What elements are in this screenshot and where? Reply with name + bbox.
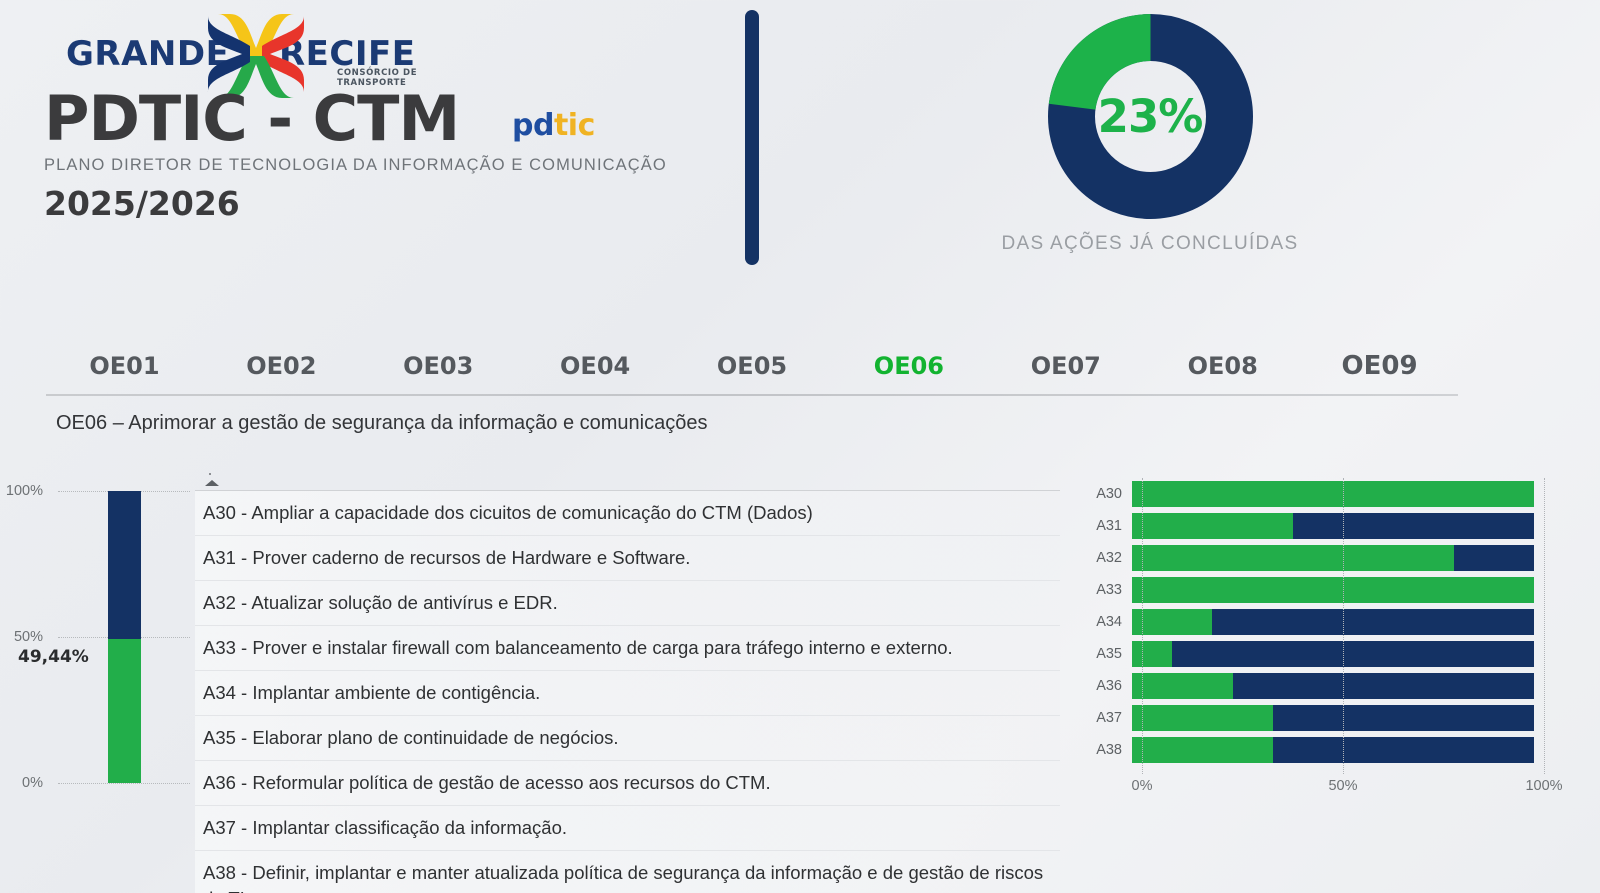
kpi-donut-block: 23% DAS AÇÕES JÁ CONCLUÍDAS bbox=[985, 14, 1315, 255]
hchart-row[interactable]: A30 bbox=[1080, 478, 1580, 509]
list-item[interactable]: A34 - Implantar ambiente de contigência. bbox=[195, 671, 1060, 716]
list-item[interactable]: A30 - Ampliar a capacidade dos cicuitos … bbox=[195, 491, 1060, 536]
objective-tabs[interactable]: OE01OE02OE03OE04OE05OE06OE07OE08OE09 bbox=[46, 336, 1458, 396]
hchart-category-a36: A36 bbox=[1080, 678, 1132, 694]
tab-oe07[interactable]: OE07 bbox=[987, 352, 1144, 380]
dashboard-page: GRANDE RECIFE CONSÓRCIO DE TRANSPORTE PD… bbox=[0, 0, 1600, 893]
pdtic-wordmark-pd: pd bbox=[512, 108, 554, 143]
vchart-ytick-100: 100% bbox=[6, 483, 43, 499]
vchart-gridline-0 bbox=[58, 783, 190, 784]
grande-recife-logo: GRANDE RECIFE CONSÓRCIO DE TRANSPORTE bbox=[54, 12, 434, 80]
hchart-bar-track bbox=[1132, 513, 1534, 539]
kpi-donut-value: 23% bbox=[1048, 14, 1253, 219]
vchart-stacked-bar[interactable] bbox=[108, 491, 141, 783]
tabs-divider bbox=[46, 394, 1458, 396]
hchart-bar-fill-concluido bbox=[1132, 705, 1273, 731]
kpi-donut-chart: 23% bbox=[1048, 14, 1253, 219]
hchart-bar-track bbox=[1132, 737, 1534, 763]
hchart-category-a37: A37 bbox=[1080, 710, 1132, 726]
vchart-ytick-0: 0% bbox=[22, 775, 43, 791]
hchart-bar-fill-concluido bbox=[1132, 481, 1534, 507]
hchart-x-axis: 0%50%100% bbox=[1142, 778, 1544, 802]
objective-progress-column-chart: 0%50%100%49,44% bbox=[0, 470, 195, 800]
kpi-donut-caption: DAS AÇÕES JÁ CONCLUÍDAS bbox=[985, 233, 1315, 255]
hchart-bar-track bbox=[1132, 641, 1534, 667]
hchart-xtick-0: 0% bbox=[1132, 778, 1153, 794]
hchart-row[interactable]: A31 bbox=[1080, 510, 1580, 541]
hchart-category-a32: A32 bbox=[1080, 550, 1132, 566]
hchart-bar-track bbox=[1132, 577, 1534, 603]
dashboard-header: GRANDE RECIFE CONSÓRCIO DE TRANSPORTE PD… bbox=[0, 0, 1600, 300]
sort-ascending-icon[interactable] bbox=[201, 472, 223, 490]
hchart-bar-fill-concluido bbox=[1132, 577, 1534, 603]
hchart-row[interactable]: A34 bbox=[1080, 606, 1580, 637]
tab-oe08[interactable]: OE08 bbox=[1144, 352, 1301, 380]
hchart-bar-track bbox=[1132, 545, 1534, 571]
actions-list[interactable]: A30 - Ampliar a capacidade dos cicuitos … bbox=[195, 491, 1060, 893]
hchart-xtick-100: 100% bbox=[1525, 778, 1562, 794]
page-title: PDTIC - CTM bbox=[44, 86, 459, 152]
hchart-row[interactable]: A36 bbox=[1080, 670, 1580, 701]
hchart-category-a38: A38 bbox=[1080, 742, 1132, 758]
vchart-ytick-50: 50% bbox=[14, 629, 43, 645]
hchart-bar-track bbox=[1132, 705, 1534, 731]
hchart-category-a30: A30 bbox=[1080, 486, 1132, 502]
hchart-category-a31: A31 bbox=[1080, 518, 1132, 534]
hchart-bar-fill-concluido bbox=[1132, 513, 1293, 539]
hchart-bar-fill-concluido bbox=[1132, 545, 1454, 571]
hchart-gridline-100 bbox=[1544, 478, 1545, 774]
list-item[interactable]: A33 - Prover e instalar firewall com bal… bbox=[195, 626, 1060, 671]
objective-heading: OE06 – Aprimorar a gestão de segurança d… bbox=[56, 412, 707, 435]
vchart-data-label: 49,44% bbox=[18, 647, 89, 667]
hchart-row[interactable]: A38 bbox=[1080, 734, 1580, 765]
list-item[interactable]: A32 - Atualizar solução de antivírus e E… bbox=[195, 581, 1060, 626]
hchart-row[interactable]: A35 bbox=[1080, 638, 1580, 669]
hchart-bar-track bbox=[1132, 609, 1534, 635]
list-item[interactable]: A31 - Prover caderno de recursos de Hard… bbox=[195, 536, 1060, 581]
hchart-row[interactable]: A33 bbox=[1080, 574, 1580, 605]
tab-oe03[interactable]: OE03 bbox=[360, 352, 517, 380]
hchart-gridline-50 bbox=[1343, 478, 1344, 774]
tab-oe09[interactable]: OE09 bbox=[1301, 351, 1458, 381]
hchart-bar-track bbox=[1132, 673, 1534, 699]
hchart-bar-fill-concluido bbox=[1132, 737, 1273, 763]
list-item[interactable]: A38 - Definir, implantar e manter atuali… bbox=[195, 851, 1060, 893]
hchart-category-a35: A35 bbox=[1080, 646, 1132, 662]
tab-oe01[interactable]: OE01 bbox=[46, 352, 203, 380]
pdtic-wordmark: pdtic bbox=[512, 108, 595, 143]
tab-oe02[interactable]: OE02 bbox=[203, 352, 360, 380]
brand-block: GRANDE RECIFE CONSÓRCIO DE TRANSPORTE PD… bbox=[44, 12, 704, 223]
tab-oe06[interactable]: OE06 bbox=[830, 352, 987, 380]
title-row: PDTIC - CTM pdtic bbox=[44, 86, 704, 152]
page-subtitle: PLANO DIRETOR DE TECNOLOGIA DA INFORMAÇÃ… bbox=[44, 156, 704, 175]
hchart-xtick-50: 50% bbox=[1328, 778, 1357, 794]
plan-period: 2025/2026 bbox=[44, 184, 704, 223]
tab-oe04[interactable]: OE04 bbox=[517, 352, 674, 380]
header-vertical-divider bbox=[745, 10, 759, 265]
list-item[interactable]: A36 - Reformular política de gestão de a… bbox=[195, 761, 1060, 806]
hchart-category-a33: A33 bbox=[1080, 582, 1132, 598]
vchart-segment-concluido bbox=[108, 639, 141, 783]
hchart-bar-fill-concluido bbox=[1132, 641, 1172, 667]
hchart-category-a34: A34 bbox=[1080, 614, 1132, 630]
actions-progress-bar-chart: A30A31A32A33A34A35A36A37A380%50%100% bbox=[1080, 478, 1580, 808]
hchart-bar-fill-concluido bbox=[1132, 673, 1233, 699]
hchart-row[interactable]: A32 bbox=[1080, 542, 1580, 573]
list-item[interactable]: A35 - Elaborar plano de continuidade de … bbox=[195, 716, 1060, 761]
hchart-bar-track bbox=[1132, 481, 1534, 507]
vchart-segment-pendente bbox=[108, 491, 141, 639]
pdtic-wordmark-tic: tic bbox=[554, 108, 595, 143]
list-item[interactable]: A37 - Implantar classificação da informa… bbox=[195, 806, 1060, 851]
actions-list-panel: A30 - Ampliar a capacidade dos cicuitos … bbox=[195, 468, 1060, 838]
hchart-gridline-0 bbox=[1142, 478, 1143, 774]
tab-oe05[interactable]: OE05 bbox=[674, 352, 831, 380]
hchart-row[interactable]: A37 bbox=[1080, 702, 1580, 733]
hchart-bar-fill-concluido bbox=[1132, 609, 1212, 635]
